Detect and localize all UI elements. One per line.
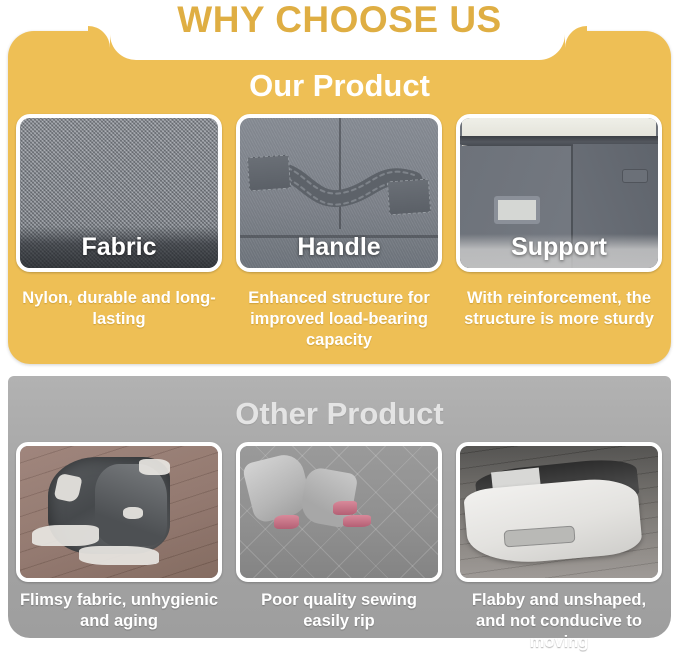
tile-label-support: Support xyxy=(460,233,658,262)
ripped-seam-image xyxy=(240,446,438,578)
our-product-heading: Our Product xyxy=(0,68,679,104)
exposed-pink-lining xyxy=(274,515,300,530)
exposed-pink-lining xyxy=(333,501,357,514)
collapsed-bag-image xyxy=(460,446,658,578)
strap-anchor-left xyxy=(247,155,291,192)
tile-poor-sewing xyxy=(236,442,442,582)
our-product-tile-row: Fabric Handle xyxy=(16,114,663,272)
flake-debris xyxy=(123,507,143,519)
side-handle-tab xyxy=(622,169,648,183)
broken-bag-flap xyxy=(95,464,166,546)
tile-flabby-bag xyxy=(456,442,662,582)
flake-debris xyxy=(79,546,158,564)
caption-poor-sewing: Poor quality sewing easily rip xyxy=(236,590,442,652)
bag-body xyxy=(463,476,643,567)
strap-anchor-right xyxy=(387,179,431,216)
damaged-bag-image xyxy=(20,446,218,578)
tile-label-handle: Handle xyxy=(240,233,438,262)
caption-fabric: Nylon, durable and long-lasting xyxy=(16,288,222,350)
exposed-pink-lining xyxy=(343,515,371,527)
tile-label-fabric: Fabric xyxy=(20,233,218,262)
caption-flimsy-fabric: Flimsy fabric, unhygienic and aging xyxy=(16,590,222,652)
other-product-heading: Other Product xyxy=(0,396,679,432)
why-choose-us-infographic: WHY CHOOSE US Our Product Other Product … xyxy=(0,0,679,645)
tile-fabric: Fabric xyxy=(16,114,222,272)
our-product-caption-row: Nylon, durable and long-lasting Enhanced… xyxy=(16,288,663,350)
caption-handle: Enhanced structure for improved load-bea… xyxy=(236,288,442,350)
other-product-caption-row: Flimsy fabric, unhygienic and aging Poor… xyxy=(16,590,663,652)
flake-debris xyxy=(139,459,171,475)
label-holder xyxy=(494,196,540,224)
tile-support: Support xyxy=(456,114,662,272)
leather-strap-handle xyxy=(246,154,432,216)
other-product-tile-row xyxy=(16,442,663,582)
caption-flabby-bag: Flabby and unshaped, and not conducive t… xyxy=(456,590,662,652)
page-title: WHY CHOOSE US xyxy=(0,0,679,42)
tile-handle: Handle xyxy=(236,114,442,272)
caption-support: With reinforcement, the structure is mor… xyxy=(456,288,662,350)
tile-flimsy-fabric xyxy=(16,442,222,582)
flake-debris xyxy=(32,525,99,546)
